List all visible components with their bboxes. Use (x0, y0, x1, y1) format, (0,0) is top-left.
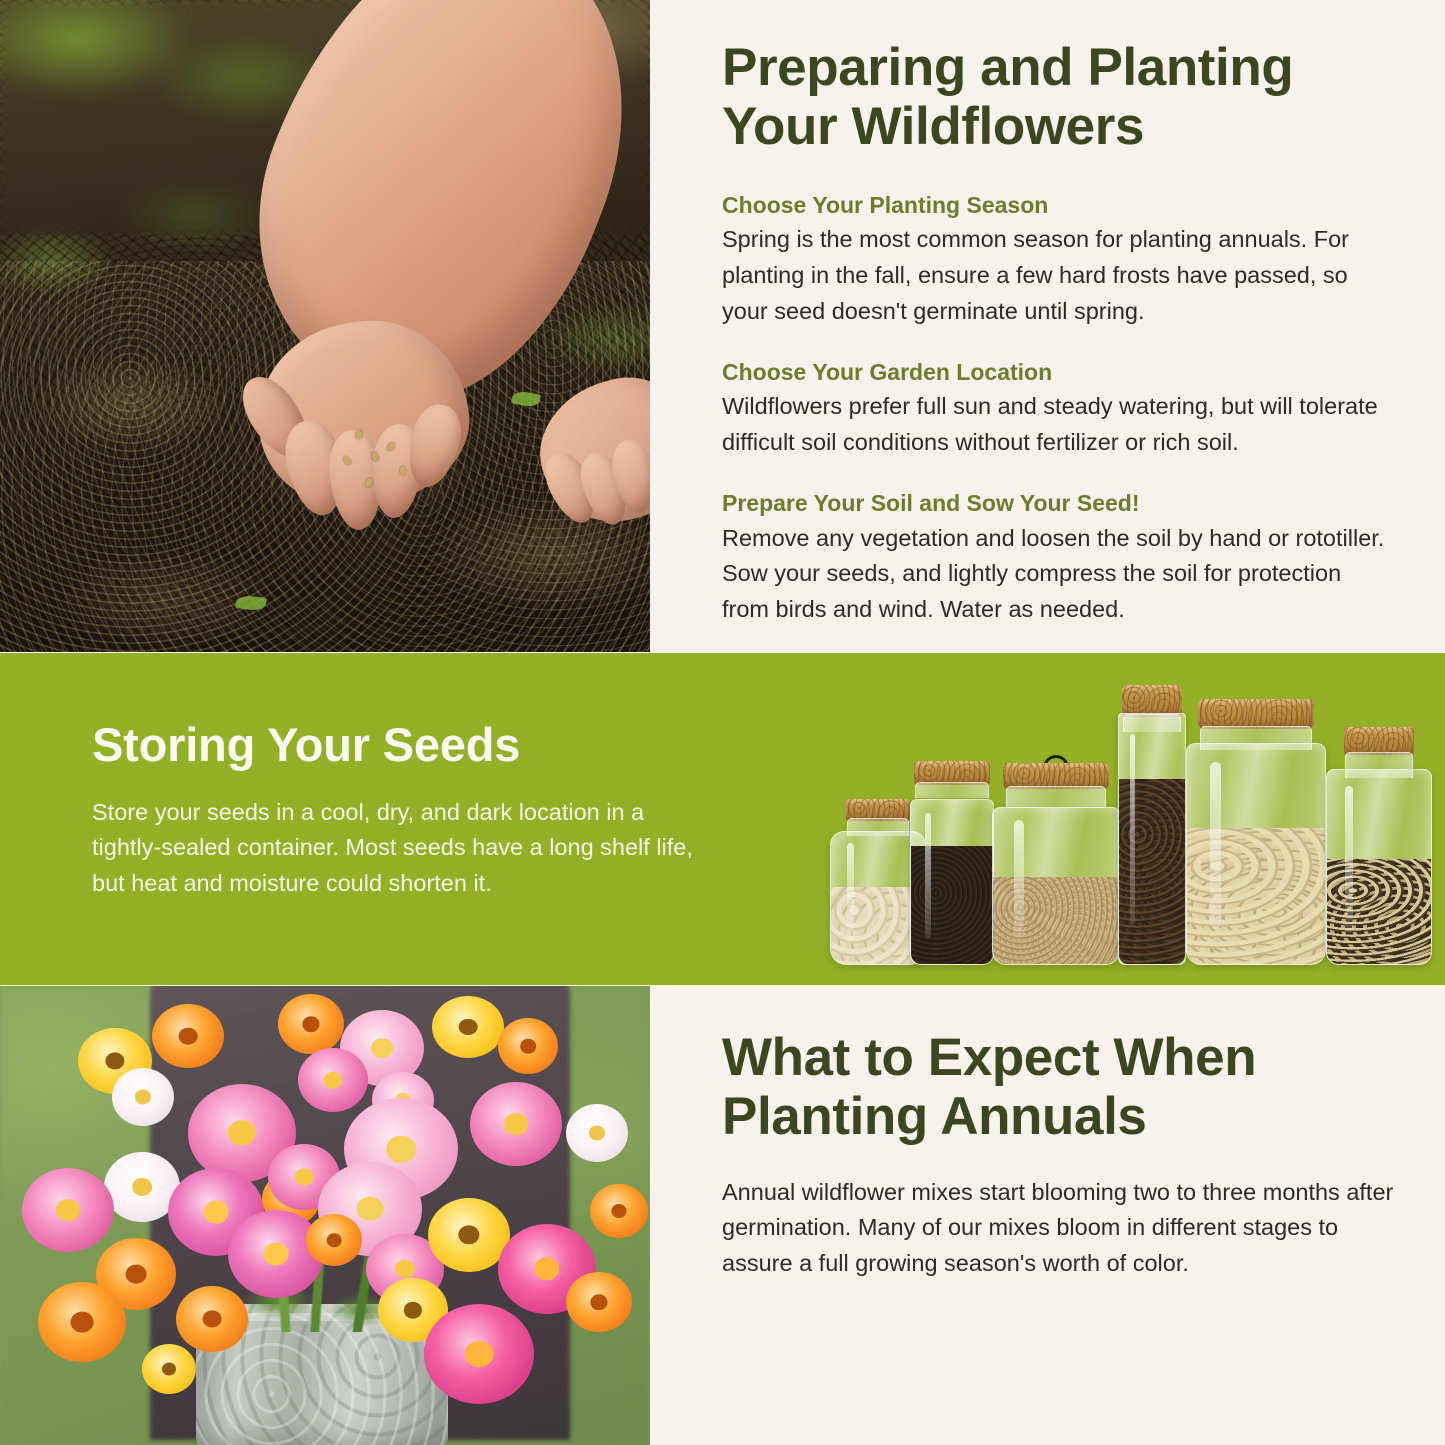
expect-text-column: What to Expect When Planting Annuals Ann… (722, 1028, 1394, 1282)
flower-bloom (306, 1214, 362, 1266)
flower-bloom (176, 1286, 248, 1352)
glass-highlight (1345, 786, 1353, 933)
flower-bloom (470, 1082, 562, 1166)
seed-fill (1327, 859, 1431, 964)
body-prepare-soil: Remove any vegetation and loosen the soi… (722, 521, 1394, 628)
flower-bloom (112, 1068, 174, 1126)
flower-bloom (298, 1048, 368, 1112)
photo-hand-sowing-seeds (0, 0, 650, 652)
preparing-text-column: Preparing and Planting Your Wildflowers … (722, 38, 1394, 628)
jar-pumpkin-seeds (1186, 699, 1326, 965)
flower-bloom (152, 1004, 224, 1068)
jar-sunflower-seed-mix (1326, 727, 1432, 965)
jar-glass (1326, 769, 1432, 965)
subhead-prepare-soil: Prepare Your Soil and Sow Your Seed! (722, 489, 1394, 518)
cork-lid-icon (1198, 699, 1314, 729)
flower-bloom (498, 1018, 558, 1074)
flower-bloom (278, 994, 344, 1054)
seed-fill (993, 877, 1119, 964)
body-garden-location: Wildflowers prefer full sun and steady w… (722, 389, 1394, 460)
flower-bloom (424, 1304, 534, 1404)
seed-fill (1119, 779, 1185, 964)
flower-bloom (566, 1272, 632, 1332)
jar-glass (1186, 743, 1326, 965)
flower-bloom (142, 1344, 196, 1394)
seed-fill (911, 846, 993, 964)
flower-bloom (38, 1282, 126, 1362)
glass-highlight (1210, 762, 1221, 929)
jar-tall-tube-brown-seed (1118, 685, 1186, 965)
glass-highlight (925, 813, 932, 938)
jar-dark-seed (910, 761, 994, 965)
storing-body: Store your seeds in a cool, dry, and dar… (92, 795, 712, 902)
subhead-garden-location: Choose Your Garden Location (722, 358, 1394, 387)
jar-glass (992, 807, 1120, 965)
block-planting-season: Choose Your Planting Season Spring is th… (722, 191, 1394, 330)
glass-highlight (1130, 734, 1135, 924)
seed-fill (1187, 828, 1325, 964)
storing-title: Storing Your Seeds (92, 719, 712, 771)
flower-bloom (432, 996, 504, 1058)
subhead-planting-season: Choose Your Planting Season (722, 191, 1394, 220)
expect-body: Annual wildflower mixes start blooming t… (722, 1175, 1394, 1282)
infographic-page: Preparing and Planting Your Wildflowers … (0, 0, 1445, 1445)
jar-glass (1118, 713, 1186, 965)
storing-text-column: Storing Your Seeds Store your seeds in a… (92, 719, 712, 902)
expect-title: What to Expect When Planting Annuals (722, 1028, 1394, 1147)
jar-neck (915, 782, 989, 798)
preparing-title: Preparing and Planting Your Wildflowers (722, 38, 1394, 157)
jar-tan-grain (992, 753, 1120, 965)
flower-bloom (22, 1168, 114, 1252)
glass-highlight (847, 843, 855, 943)
body-planting-season: Spring is the most common season for pla… (722, 222, 1394, 329)
flower-bloom (566, 1104, 628, 1162)
photo-flower-bouquet (0, 986, 650, 1445)
photo-seed-jars (826, 671, 1386, 971)
section-preparing-planting: Preparing and Planting Your Wildflowers … (0, 0, 1445, 652)
section-storing-seeds: Storing Your Seeds Store your seeds in a… (0, 653, 1445, 985)
section-what-to-expect: What to Expect When Planting Annuals Ann… (0, 986, 1445, 1445)
block-garden-location: Choose Your Garden Location Wildflowers … (722, 358, 1394, 461)
glass-highlight (1014, 820, 1024, 939)
flower-bloom (590, 1184, 648, 1238)
block-prepare-soil: Prepare Your Soil and Sow Your Seed! Rem… (722, 489, 1394, 628)
jar-neck (1006, 786, 1106, 808)
cork-lid-icon (1344, 727, 1414, 755)
jar-glass (910, 799, 994, 965)
